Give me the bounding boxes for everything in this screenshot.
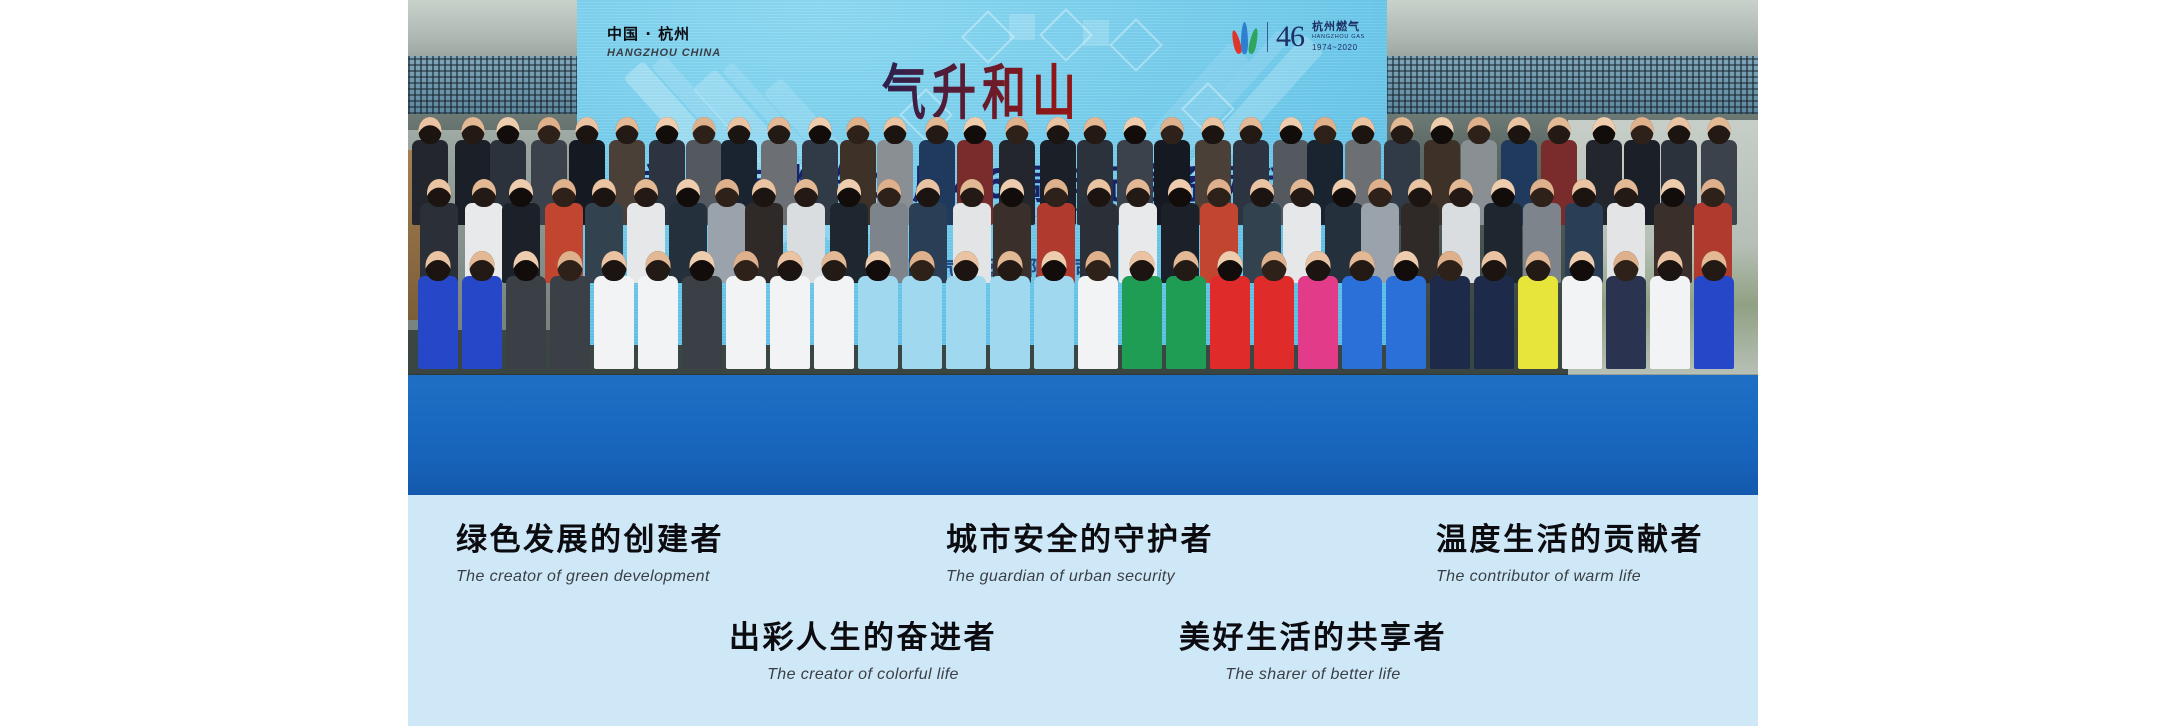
person-head <box>558 251 583 281</box>
person-head <box>1668 117 1691 144</box>
person-head <box>728 117 751 144</box>
person <box>1650 251 1690 369</box>
blue-carpet <box>408 375 1758 495</box>
person-head <box>752 179 776 207</box>
person-head <box>1707 117 1730 144</box>
person-head <box>1614 179 1638 207</box>
person-head <box>877 179 901 207</box>
person-head <box>602 251 627 281</box>
person-head <box>1313 117 1336 144</box>
person <box>902 251 942 369</box>
slogan-en: The contributor of warm life <box>1436 568 1758 586</box>
slogan-en: The guardian of urban security <box>946 568 1268 586</box>
person-head <box>866 251 891 281</box>
person-head <box>1262 251 1287 281</box>
crowd-group <box>408 135 1758 375</box>
slogan-item: 温度生活的贡献者 The contributor of warm life <box>1436 523 1758 586</box>
person-head <box>514 251 539 281</box>
person-head <box>1240 117 1263 144</box>
person <box>638 251 678 369</box>
person-body <box>638 276 678 369</box>
person-head <box>646 251 671 281</box>
slogan-cn: 城市安全的守护者 <box>946 523 1268 559</box>
slogan-item: 城市安全的守护者 The guardian of urban security <box>946 523 1268 586</box>
person-head <box>1207 179 1231 207</box>
person-head <box>1526 251 1551 281</box>
person-head <box>1174 251 1199 281</box>
person-head <box>509 179 533 207</box>
person-head <box>1507 117 1530 144</box>
slogan-item: 出彩人生的奋进者 The creator of colorful life <box>698 621 1028 684</box>
person-head <box>419 117 442 144</box>
slogan-item: 绿色发展的创建者 The creator of green developmen… <box>456 523 778 586</box>
person-body <box>1694 276 1734 369</box>
person-head <box>615 117 638 144</box>
person-body <box>1034 276 1074 369</box>
person-head <box>1630 117 1653 144</box>
person <box>1078 251 1118 369</box>
person-body <box>1122 276 1162 369</box>
slogan-cn: 温度生活的贡献者 <box>1436 523 1758 559</box>
person-head <box>1202 117 1225 144</box>
person-head <box>734 251 759 281</box>
slogan-item: 美好生活的共享者 The sharer of better life <box>1148 621 1478 684</box>
person-body <box>858 276 898 369</box>
person <box>1518 251 1558 369</box>
person-body <box>550 276 590 369</box>
person-head <box>1482 251 1507 281</box>
person-head <box>1530 179 1554 207</box>
person <box>1694 251 1734 369</box>
person-head <box>1449 179 1473 207</box>
slogan-en: The sharer of better life <box>1225 666 1400 684</box>
person-body <box>1650 276 1690 369</box>
person-head <box>1000 179 1024 207</box>
person <box>1342 251 1382 369</box>
person <box>990 251 1030 369</box>
person <box>1474 251 1514 369</box>
crowd-row-front <box>408 243 1758 369</box>
person-head <box>883 117 906 144</box>
person-head <box>1350 251 1375 281</box>
person-head <box>552 179 576 207</box>
person-head <box>472 179 496 207</box>
location-cn: 中国 · 杭州 <box>607 26 721 43</box>
brand-en: HANGZHOU GAS <box>1312 34 1365 41</box>
person-head <box>778 251 803 281</box>
person-body <box>1430 276 1470 369</box>
person-head <box>794 179 818 207</box>
person-head <box>1572 179 1596 207</box>
person-body <box>946 276 986 369</box>
decor-square <box>1083 20 1109 46</box>
person-head <box>1658 251 1683 281</box>
person-body <box>1078 276 1118 369</box>
person-head <box>954 251 979 281</box>
slogan-panel: 绿色发展的创建者 The creator of green developmen… <box>408 495 1758 726</box>
person <box>1034 251 1074 369</box>
content-column: 中国 · 杭州 HANGZHOU CHINA 46 杭州燃气 HANGZHOU … <box>408 0 1758 726</box>
person-head <box>768 117 791 144</box>
person <box>770 251 810 369</box>
person <box>1210 251 1250 369</box>
person-head <box>1083 117 1106 144</box>
person-head <box>634 179 658 207</box>
person-head <box>497 117 520 144</box>
person <box>814 251 854 369</box>
person-head <box>1046 117 1069 144</box>
person-head <box>1130 251 1155 281</box>
person-head <box>1126 179 1150 207</box>
person-head <box>470 251 495 281</box>
person <box>682 251 722 369</box>
person-body <box>682 276 722 369</box>
person-head <box>426 251 451 281</box>
person-head <box>1661 179 1685 207</box>
person-head <box>1168 179 1192 207</box>
person-head <box>1438 251 1463 281</box>
person-body <box>418 276 458 369</box>
person-head <box>960 179 984 207</box>
slogan-row-2: 出彩人生的奋进者 The creator of colorful life 美好… <box>408 621 1758 684</box>
person-head <box>925 117 948 144</box>
person-head <box>1570 251 1595 281</box>
person <box>550 251 590 369</box>
person-head <box>964 117 987 144</box>
person-head <box>1408 179 1432 207</box>
person-head <box>837 179 861 207</box>
person-head <box>1332 179 1356 207</box>
person-body <box>1298 276 1338 369</box>
person-body <box>814 276 854 369</box>
person-head <box>1430 117 1453 144</box>
slogan-cn: 绿色发展的创建者 <box>456 523 778 559</box>
person <box>1298 251 1338 369</box>
person <box>506 251 546 369</box>
person-head <box>822 251 847 281</box>
person-head <box>1161 117 1184 144</box>
person-body <box>1166 276 1206 369</box>
decor-square <box>1009 14 1035 40</box>
person-head <box>715 179 739 207</box>
person-head <box>1290 179 1314 207</box>
person-head <box>1250 179 1274 207</box>
person-head <box>1123 117 1146 144</box>
person-head <box>1005 117 1028 144</box>
person-body <box>1474 276 1514 369</box>
person <box>1430 251 1470 369</box>
person-head <box>1547 117 1570 144</box>
person <box>1562 251 1602 369</box>
person <box>1122 251 1162 369</box>
person-body <box>726 276 766 369</box>
person-head <box>538 117 561 144</box>
person-head <box>910 251 935 281</box>
person-head <box>427 179 451 207</box>
person-body <box>1342 276 1382 369</box>
slogan-en: The creator of green development <box>456 568 778 586</box>
brand-cn: 杭州燃气 <box>1312 21 1365 35</box>
slogan-en: The creator of colorful life <box>767 666 959 684</box>
person <box>1254 251 1294 369</box>
person <box>1386 251 1426 369</box>
person-head <box>847 117 870 144</box>
slogan-cn: 出彩人生的奋进者 <box>729 621 997 657</box>
person-body <box>990 276 1030 369</box>
page-root: 中国 · 杭州 HANGZHOU CHINA 46 杭州燃气 HANGZHOU … <box>0 0 2179 726</box>
person-head <box>1086 251 1111 281</box>
person-body <box>770 276 810 369</box>
person-head <box>998 251 1023 281</box>
person-head <box>808 117 831 144</box>
person <box>726 251 766 369</box>
person-head <box>1306 251 1331 281</box>
person-head <box>1368 179 1392 207</box>
group-photo: 中国 · 杭州 HANGZHOU CHINA 46 杭州燃气 HANGZHOU … <box>408 0 1758 495</box>
person-head <box>1391 117 1414 144</box>
person-head <box>1087 179 1111 207</box>
person-body <box>506 276 546 369</box>
person-head <box>692 117 715 144</box>
person-head <box>1614 251 1639 281</box>
person-body <box>462 276 502 369</box>
person-body <box>594 276 634 369</box>
person-head <box>916 179 940 207</box>
person-head <box>1218 251 1243 281</box>
person-body <box>902 276 942 369</box>
person-body <box>1562 276 1602 369</box>
person <box>1166 251 1206 369</box>
person-head <box>1279 117 1302 144</box>
slogan-row-1: 绿色发展的创建者 The creator of green developmen… <box>408 523 1758 586</box>
person-head <box>576 117 599 144</box>
person <box>594 251 634 369</box>
person <box>462 251 502 369</box>
slogan-cn: 美好生活的共享者 <box>1179 621 1447 657</box>
person-head <box>1468 117 1491 144</box>
person-head <box>1592 117 1615 144</box>
person-head <box>1701 179 1725 207</box>
person-head <box>1351 117 1374 144</box>
person <box>858 251 898 369</box>
person-head <box>1702 251 1727 281</box>
person-head <box>1042 251 1067 281</box>
person-head <box>1491 179 1515 207</box>
person-body <box>1386 276 1426 369</box>
person-head <box>1044 179 1068 207</box>
person-head <box>461 117 484 144</box>
person-head <box>676 179 700 207</box>
person-body <box>1606 276 1646 369</box>
person-body <box>1254 276 1294 369</box>
person <box>1606 251 1646 369</box>
person-head <box>1394 251 1419 281</box>
person <box>946 251 986 369</box>
person <box>418 251 458 369</box>
person-body <box>1518 276 1558 369</box>
person-body <box>1210 276 1250 369</box>
person-head <box>690 251 715 281</box>
person-head <box>655 117 678 144</box>
person-head <box>592 179 616 207</box>
